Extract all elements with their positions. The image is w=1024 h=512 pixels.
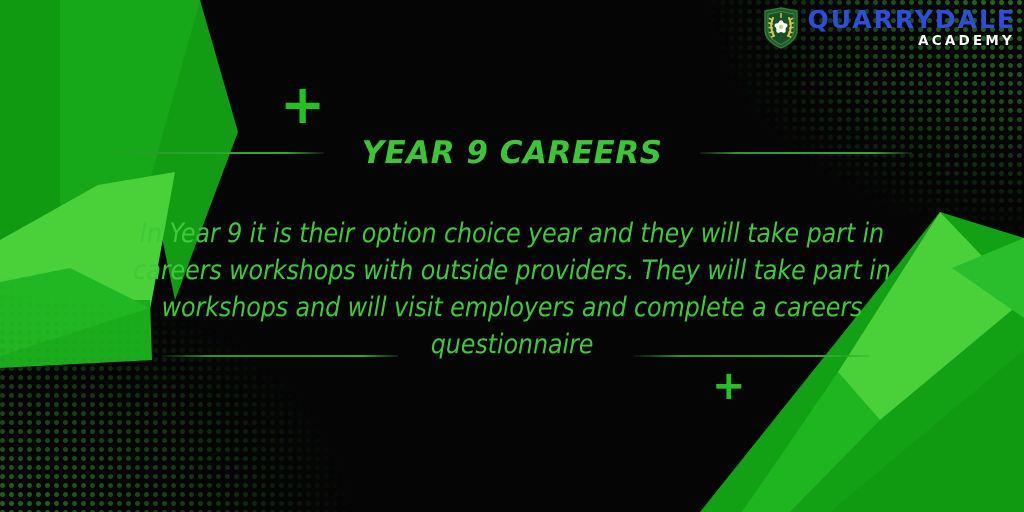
- brand-wordmark: QUARRYDALE ACADEMY: [808, 7, 1016, 49]
- slide-content: QUARRYDALE ACADEMY YEAR 9 CAREERS In Yea…: [0, 0, 1024, 512]
- brand-name-primary: QUARRYDALE: [808, 7, 1016, 32]
- footer-rule-right: [634, 355, 870, 357]
- plus-accent-top-icon: +: [280, 78, 325, 132]
- footer-rule-left: [162, 355, 398, 357]
- brand-logo: QUARRYDALE ACADEMY: [762, 7, 1016, 49]
- title-rule-left: [112, 152, 324, 154]
- page-title: YEAR 9 CAREERS: [362, 135, 663, 171]
- body-paragraph: In Year 9 it is their option choice year…: [112, 215, 912, 363]
- brand-name-secondary: ACADEMY: [918, 35, 1015, 49]
- shield-laurel-crest-icon: [762, 7, 800, 49]
- section-title-row: YEAR 9 CAREERS: [0, 135, 1024, 171]
- slide-canvas: QUARRYDALE ACADEMY YEAR 9 CAREERS In Yea…: [0, 0, 1024, 512]
- plus-accent-bottom-icon: +: [712, 366, 746, 406]
- title-rule-right: [700, 152, 912, 154]
